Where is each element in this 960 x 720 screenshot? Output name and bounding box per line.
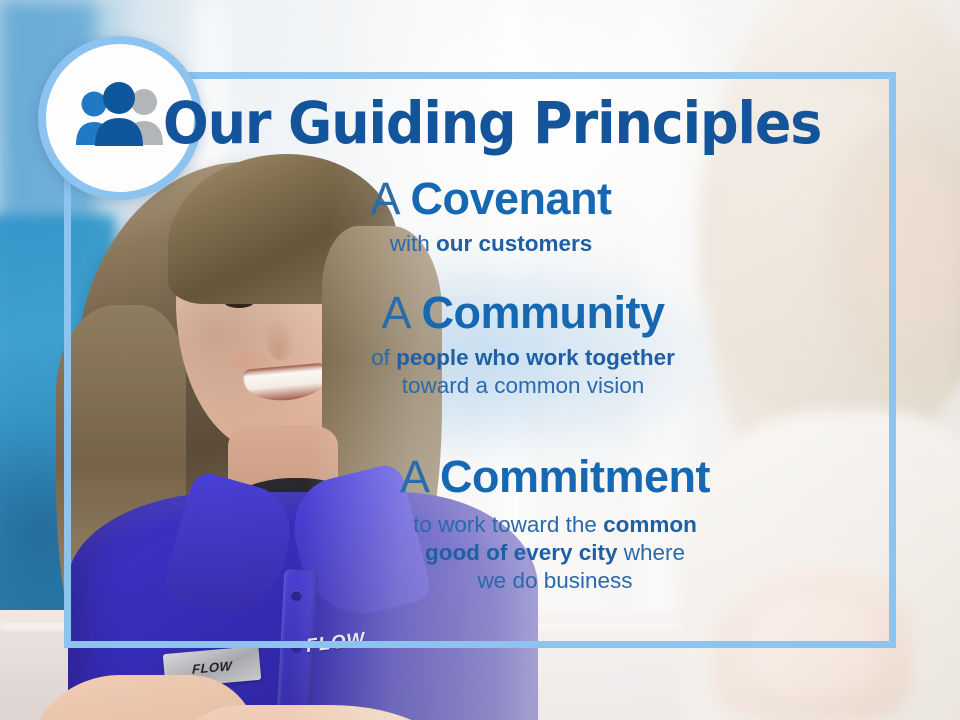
principle-heading: A Commitment [214,454,896,501]
principle-community: A Community of people who work together … [64,290,896,400]
principle-subtext-line: toward a common vision [150,372,896,400]
employee-name-badge-text: FLOW [192,658,232,677]
sub-span-bold: common [603,512,697,537]
sub-span-bold: people who work together [396,345,675,370]
sub-span-bold: good of every city [425,540,618,565]
principle-subtext: of people who work together toward a com… [150,344,896,401]
principle-covenant: A Covenant with our customers [64,176,896,258]
text-content: Our Guiding Principles A Covenant with o… [64,72,896,648]
sub-span: we do business [477,568,632,593]
page-title: Our Guiding Principles [93,94,867,152]
principle-subtext-line: good of every city where [214,539,896,567]
principle-article: A [400,451,428,502]
sub-span: where [618,540,686,565]
principle-subtext-line: to work toward the common [214,511,896,539]
guiding-principles-banner: FLOW FLOW Our Guiding Princ [0,0,960,720]
principle-word: Covenant [411,173,612,224]
sub-span: to work toward the [413,512,603,537]
principle-subtext-line: of people who work together [150,344,896,372]
principle-subtext: to work toward the common good of every … [214,511,896,596]
principle-article: A [370,173,398,224]
principle-subtext: with our customers [86,230,896,258]
sub-span-bold: our customers [436,231,592,256]
sub-span: of [371,345,396,370]
principle-heading: A Community [150,290,896,337]
sub-span: with [390,231,436,256]
principle-article: A [381,287,409,338]
principle-subtext-line: we do business [214,567,896,595]
principle-word: Community [422,287,665,338]
principle-word: Commitment [440,451,710,502]
principle-commitment: A Commitment to work toward the common g… [64,454,896,596]
principle-subtext-line: with our customers [86,230,896,258]
principle-heading: A Covenant [86,176,896,223]
sub-span: toward a common vision [402,373,645,398]
